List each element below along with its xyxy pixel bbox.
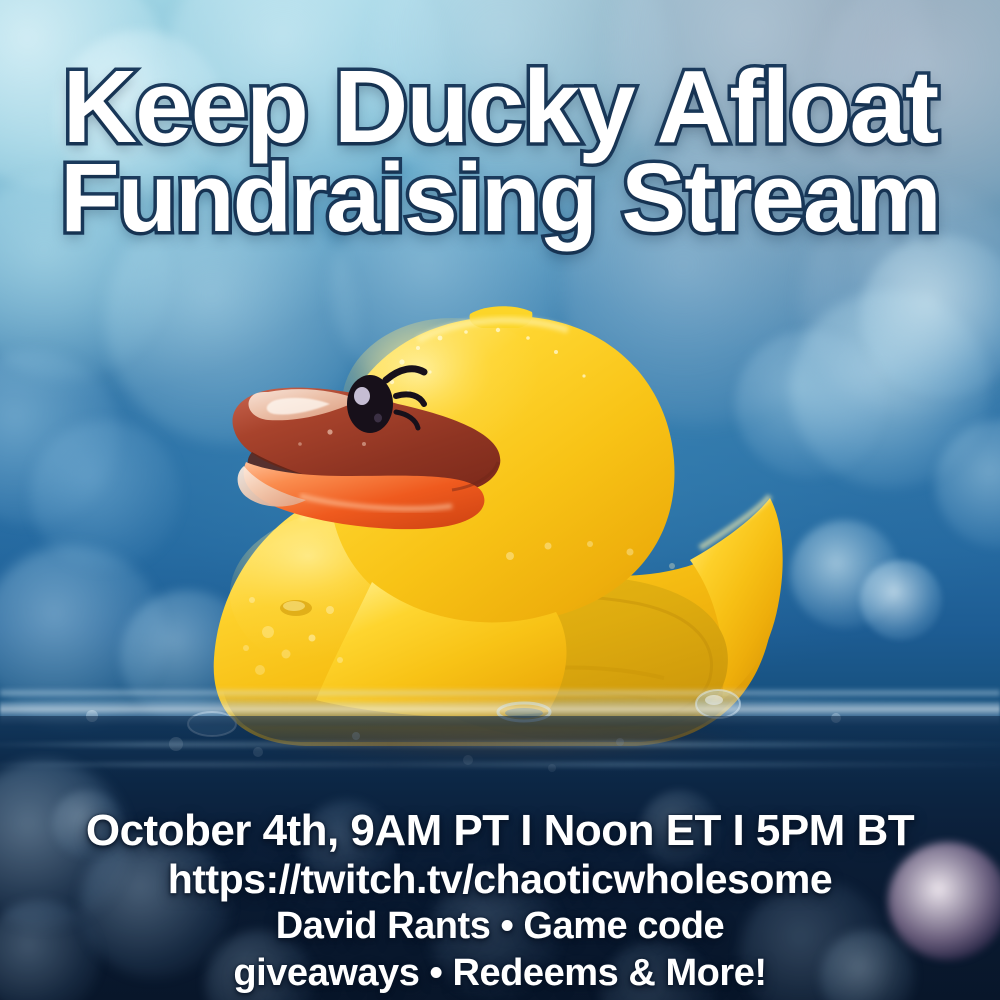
stream-schedule-text: October 4th, 9AM PT I Noon ET I 5PM BT [0, 806, 1000, 855]
features-line-1: David Rants • Game code [0, 903, 1000, 949]
poster-canvas: Keep Ducky Afloat Fundraising Stream Oct… [0, 0, 1000, 1000]
water-ripple [0, 742, 1000, 747]
title-line-2: Fundraising Stream [0, 151, 1000, 244]
stream-url-link[interactable]: https://twitch.tv/chaoticwholesome [0, 855, 1000, 903]
features-line-2: giveaways • Redeems & More! [0, 950, 1000, 996]
water-ripple [0, 698, 1000, 703]
poster-title: Keep Ducky Afloat Fundraising Stream [0, 58, 1000, 244]
water-ripple [0, 762, 1000, 767]
water-highlight-line [0, 688, 1000, 698]
poster-footer: October 4th, 9AM PT I Noon ET I 5PM BT h… [0, 806, 1000, 996]
